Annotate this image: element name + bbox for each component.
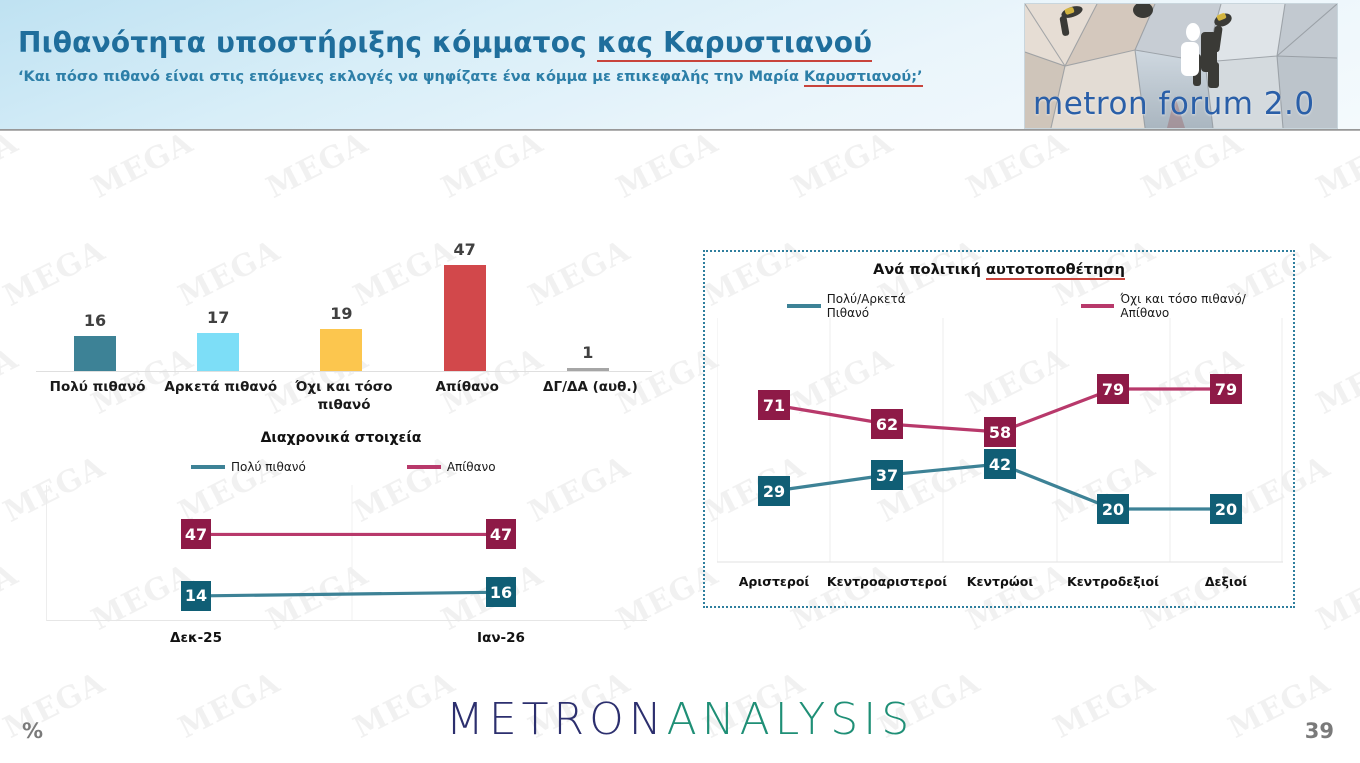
- bar-value-label: 47: [453, 240, 475, 259]
- political-panel-title: Ανά πολιτική αυτοτοποθέτηση: [705, 262, 1293, 278]
- political-self-placement-panel: Ανά πολιτική αυτοτοποθέτηση Πολύ/Αρκετά …: [703, 250, 1295, 608]
- timeseries-legend: Πολύ πιθανόΑπίθανο: [191, 460, 496, 474]
- bar-value-label: 1: [582, 343, 593, 362]
- bar-plot-area: 161719471: [36, 236, 652, 372]
- unit-percent-label: %: [22, 719, 43, 743]
- x-axis-label: Κεντροαριστεροί: [827, 574, 947, 589]
- line-data-label[interactable]: 71: [758, 390, 790, 420]
- line-data-label[interactable]: 79: [1210, 374, 1242, 404]
- legend-item[interactable]: Πολύ/Αρκετά Πιθανό: [787, 292, 951, 320]
- bar-value-label: 19: [330, 304, 352, 323]
- page-number: 39: [1305, 719, 1334, 743]
- x-axis-label: Αριστεροί: [739, 574, 810, 589]
- bar-column[interactable]: 1: [529, 236, 647, 372]
- legend-label: Πολύ/Αρκετά Πιθανό: [827, 292, 951, 320]
- bar-category-label: ΔΓ/ΔΑ (αυθ.): [525, 378, 655, 396]
- line-data-label[interactable]: 58: [984, 417, 1016, 447]
- bar-value-label: 17: [207, 308, 229, 327]
- legend-label: Απίθανο: [447, 460, 496, 474]
- legend-item[interactable]: Πολύ πιθανό: [191, 460, 306, 474]
- slide-content: 161719471 Πολύ πιθανόΑρκετά πιθανόΌχι κα…: [0, 0, 1360, 763]
- political-legend: Πολύ/Αρκετά ΠιθανόΌχι και τόσο πιθανό/Απ…: [787, 292, 1293, 320]
- series-line: [197, 592, 502, 596]
- x-axis-label: Δεκ-25: [170, 630, 222, 646]
- bar-baseline: [36, 371, 652, 372]
- bar-category-label: Αρκετά πιθανό: [156, 378, 286, 396]
- bar-column[interactable]: 19: [282, 236, 400, 372]
- timeseries-title: Διαχρονικά στοιχεία: [36, 430, 646, 446]
- legend-line-icon: [407, 465, 441, 469]
- legend-line-icon: [1081, 304, 1115, 308]
- legend-line-icon: [787, 304, 821, 308]
- metron-analysis-logo: METRONANALYSIS: [0, 694, 1360, 745]
- bar-column[interactable]: 47: [406, 236, 524, 372]
- timeseries-lines: [47, 485, 647, 620]
- bar-rect[interactable]: [320, 329, 362, 372]
- bar-column[interactable]: 17: [159, 236, 277, 372]
- timeseries-line-chart: Διαχρονικά στοιχεία Πολύ πιθανόΑπίθανο 1…: [36, 430, 646, 685]
- line-data-label[interactable]: 47: [181, 519, 211, 549]
- x-axis-label: Κεντρώοι: [967, 574, 1033, 589]
- line-data-label[interactable]: 62: [871, 409, 903, 439]
- legend-line-icon: [191, 465, 225, 469]
- brand-analysis: ANALYSIS: [667, 694, 915, 745]
- bar-category-label: Πολύ πιθανό: [33, 378, 163, 396]
- bar-category-labels: Πολύ πιθανόΑρκετά πιθανόΌχι και τόσο πιθ…: [36, 378, 652, 426]
- line-data-label[interactable]: 29: [758, 476, 790, 506]
- political-panel-title-text: Ανά πολιτική: [873, 262, 986, 278]
- bar-rect[interactable]: [74, 336, 116, 372]
- bar-rect[interactable]: [197, 333, 239, 372]
- x-axis-label: Δεξιοί: [1205, 574, 1247, 589]
- legend-item[interactable]: Απίθανο: [407, 460, 496, 474]
- bar-column[interactable]: 16: [36, 236, 154, 372]
- line-data-label[interactable]: 42: [984, 449, 1016, 479]
- line-data-label[interactable]: 47: [486, 519, 516, 549]
- slide: MEGAMEGAMEGAMEGAMEGAMEGAMEGAMEGAMEGAMEGA…: [0, 0, 1360, 763]
- legend-label: Πολύ πιθανό: [231, 460, 306, 474]
- bar-category-label: Απίθανο: [402, 378, 532, 396]
- timeseries-plot-area: [46, 485, 647, 621]
- line-data-label[interactable]: 16: [486, 577, 516, 607]
- line-data-label[interactable]: 79: [1097, 374, 1129, 404]
- line-data-label[interactable]: 14: [181, 581, 211, 611]
- line-data-label[interactable]: 20: [1210, 494, 1242, 524]
- likelihood-bar-chart: 161719471 Πολύ πιθανόΑρκετά πιθανόΌχι κα…: [36, 236, 652, 426]
- bar-rect[interactable]: [444, 265, 486, 372]
- political-panel-title-misspelled: αυτοτοποθέτηση: [986, 262, 1125, 280]
- line-data-label[interactable]: 37: [871, 460, 903, 490]
- x-axis-label: Κεντροδεξιοί: [1067, 574, 1159, 589]
- legend-label: Όχι και τόσο πιθανό/Απίθανο: [1120, 292, 1293, 320]
- legend-item[interactable]: Όχι και τόσο πιθανό/Απίθανο: [1081, 292, 1293, 320]
- bar-value-label: 16: [84, 311, 106, 330]
- brand-metron: METRON: [446, 694, 667, 745]
- bar-category-label: Όχι και τόσο πιθανό: [279, 378, 409, 414]
- x-axis-label: Ιαν-26: [477, 630, 525, 646]
- line-data-label[interactable]: 20: [1097, 494, 1129, 524]
